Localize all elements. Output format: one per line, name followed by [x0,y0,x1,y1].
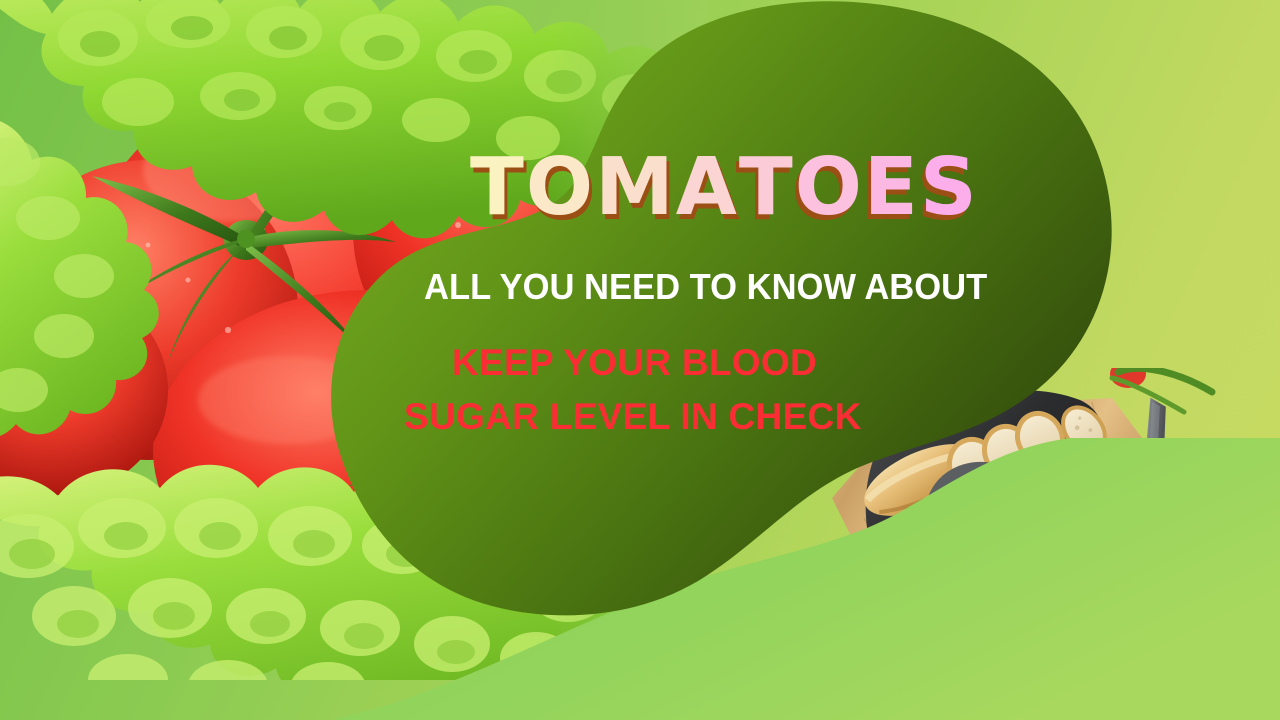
page-title-letter: E [864,148,920,227]
page-title-letter: T [739,148,795,227]
cutting-board-bread-tomatoes-knife-photo [812,368,1232,640]
page-title-letter: O [795,148,864,227]
tomatoes-and-lettuce-photo [0,0,708,680]
poster-canvas: TOMATOES TOMATOES ALL YOU NEED TO KNOW A… [0,0,1280,720]
page-title-letter: S [920,148,979,227]
